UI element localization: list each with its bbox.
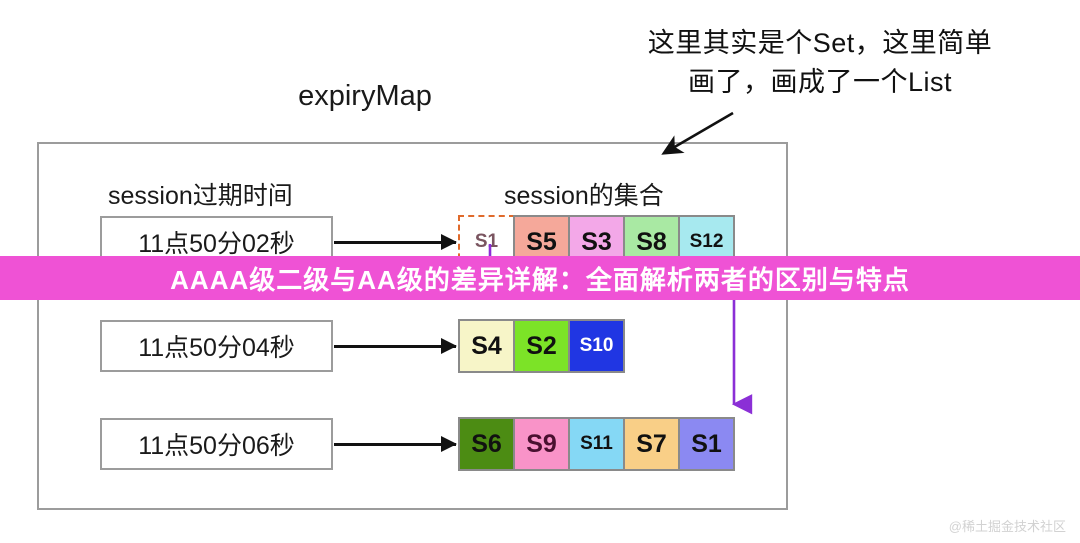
annotation-line-1: 这里其实是个Set，这里简单 <box>620 24 1020 63</box>
column-header-session-set: session的集合 <box>504 176 664 212</box>
session-set-row: S6S9S11S7S1 <box>458 417 735 471</box>
session-cell: S9 <box>513 417 570 471</box>
promo-banner-text: AAAA级二级与AA级的差异详解：全面解析两者的区别与特点 <box>170 260 910 297</box>
session-set-row: S4S2S10 <box>458 319 625 373</box>
watermark: @稀土掘金技术社区 <box>949 516 1066 535</box>
diagram-canvas: 这里其实是个Set，这里简单 画了，画成了一个List expiryMap se… <box>0 0 1080 543</box>
session-cell: S10 <box>568 319 625 373</box>
session-cell: S1 <box>678 417 735 471</box>
connector-arrow-icon <box>334 241 456 244</box>
session-cell: S2 <box>513 319 570 373</box>
expiry-time-box: 11点50分04秒 <box>100 320 333 372</box>
session-cell: S11 <box>568 417 625 471</box>
annotation-note: 这里其实是个Set，这里简单 画了，画成了一个List <box>620 24 1020 102</box>
column-header-expiry-time: session过期时间 <box>108 176 293 212</box>
connector-arrow-icon <box>334 345 456 348</box>
expiry-time-box: 11点50分06秒 <box>100 418 333 470</box>
annotation-line-2: 画了，画成了一个List <box>620 63 1020 102</box>
promo-banner: AAAA级二级与AA级的差异详解：全面解析两者的区别与特点 <box>0 256 1080 300</box>
session-cell: S7 <box>623 417 680 471</box>
connector-arrow-icon <box>334 443 456 446</box>
session-cell: S4 <box>458 319 515 373</box>
session-cell: S6 <box>458 417 515 471</box>
page-title: expiryMap <box>240 80 490 113</box>
